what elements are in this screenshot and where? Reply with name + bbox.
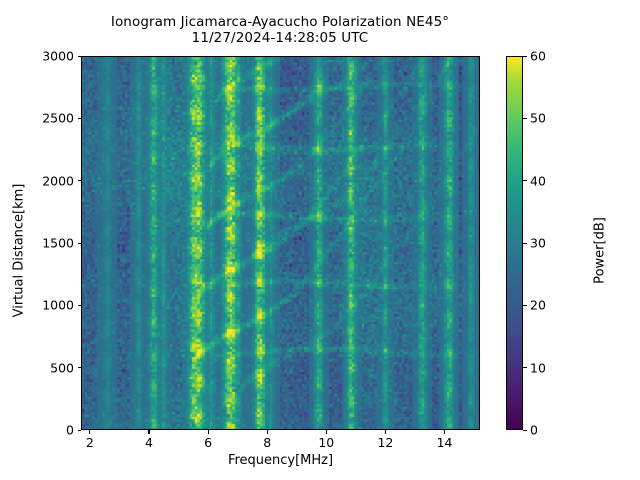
x-tick-mark: [148, 430, 149, 434]
colorbar-tick-mark: [523, 56, 527, 57]
y-tick-mark: [78, 118, 82, 119]
colorbar-tick-label: 10: [530, 360, 564, 375]
colorbar-tick-mark: [523, 118, 527, 119]
x-tick-mark: [326, 430, 327, 434]
colorbar-tick-label: 20: [530, 298, 564, 313]
chart-title: Ionogram Jicamarca-Ayacucho Polarization…: [0, 14, 560, 46]
colorbar-label: Power[dB]: [593, 136, 608, 366]
y-tick-mark: [78, 180, 82, 181]
colorbar-tick-mark: [523, 367, 527, 368]
x-tick-label: 4: [129, 435, 169, 450]
title-line-main: Ionogram Jicamarca-Ayacucho Polarization…: [0, 14, 560, 30]
y-tick-mark: [78, 430, 82, 431]
x-tick-label: 12: [365, 435, 405, 450]
y-tick-label: 3000: [14, 49, 74, 64]
x-tick-mark: [208, 430, 209, 434]
x-tick-label: 10: [306, 435, 346, 450]
colorbar-tick-label: 30: [530, 236, 564, 251]
y-tick-mark: [78, 243, 82, 244]
x-tick-mark: [267, 430, 268, 434]
title-line-timestamp: 11/27/2024-14:28:05 UTC: [0, 30, 560, 46]
colorbar-tick-mark: [523, 430, 527, 431]
x-tick-label: 2: [70, 435, 110, 450]
y-tick-mark: [78, 56, 82, 57]
x-tick-mark: [444, 430, 445, 434]
y-axis-label: Virtual Distance[km]: [12, 136, 27, 366]
x-tick-mark: [385, 430, 386, 434]
y-tick-mark: [78, 305, 82, 306]
x-tick-label: 8: [247, 435, 287, 450]
y-tick-label: 2500: [14, 111, 74, 126]
ionogram-figure: Ionogram Jicamarca-Ayacucho Polarization…: [0, 0, 640, 480]
colorbar-tick-mark: [523, 305, 527, 306]
y-tick-mark: [78, 367, 82, 368]
ionogram-heatmap-canvas: [82, 57, 480, 430]
plot-area: [81, 56, 480, 430]
colorbar-tick-mark: [523, 180, 527, 181]
y-tick-label: 0: [14, 423, 74, 438]
x-axis-label: Frequency[MHz]: [81, 453, 480, 468]
colorbar-tick-label: 0: [530, 423, 564, 438]
colorbar-tick-mark: [523, 243, 527, 244]
x-tick-label: 6: [188, 435, 228, 450]
colorbar-tick-label: 40: [530, 173, 564, 188]
x-tick-label: 14: [425, 435, 465, 450]
colorbar: [506, 56, 523, 430]
colorbar-tick-label: 50: [530, 111, 564, 126]
colorbar-tick-label: 60: [530, 49, 564, 64]
x-tick-mark: [89, 430, 90, 434]
